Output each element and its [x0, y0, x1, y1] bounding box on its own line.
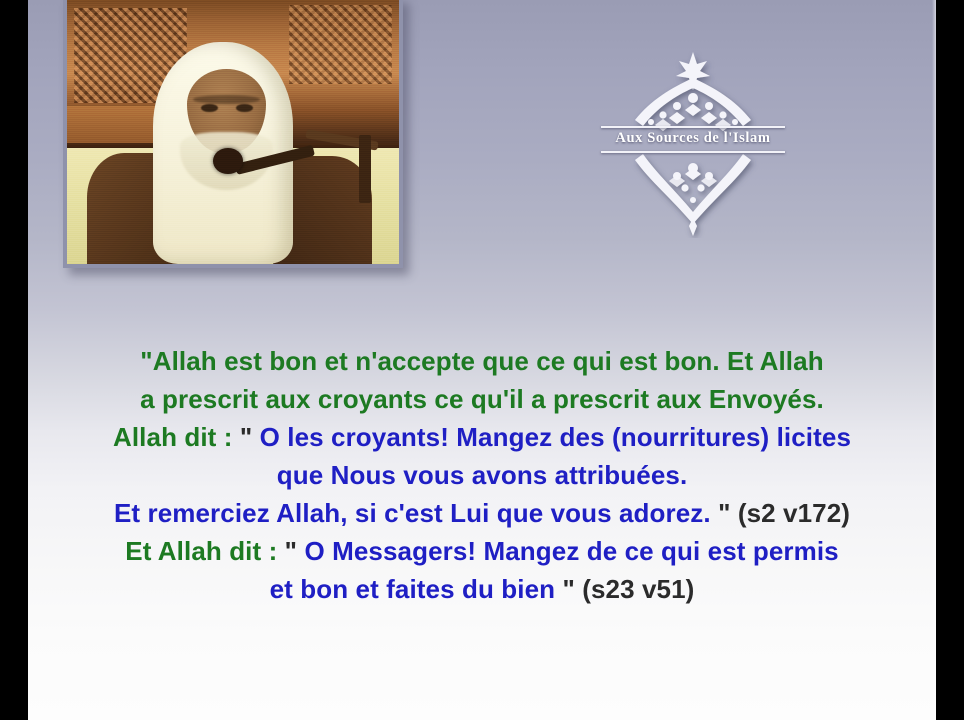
caption-line-3-segment-1: Allah dit :	[113, 422, 240, 452]
photo-video-grain	[67, 0, 399, 264]
caption-line-4: que Nous vous avons attribuées.	[28, 456, 936, 494]
speaker-photo	[67, 0, 399, 264]
caption-line-6-segment-2: "	[285, 536, 305, 566]
caption-line-7: et bon et faites du bien " (s23 v51)	[28, 570, 936, 608]
video-letterbox-frame: Aux Sources de l'Islam "Allah est bon et…	[0, 0, 964, 720]
logo-rule-bottom	[601, 151, 785, 153]
caption-line-1-segment-1: "Allah est bon et n'accepte que ce qui e…	[140, 346, 823, 376]
channel-logo: Aux Sources de l'Islam	[593, 48, 793, 238]
caption-line-6-segment-1: Et Allah dit :	[125, 536, 284, 566]
caption-line-6-segment-3: O Messagers! Mangez de ce qui est permis	[304, 536, 838, 566]
logo-rule-top	[601, 126, 785, 128]
caption-line-7-segment-1: et bon et faites du bien	[270, 574, 563, 604]
caption-line-1: "Allah est bon et n'accepte que ce qui e…	[28, 342, 936, 380]
slide-content-area: Aux Sources de l'Islam "Allah est bon et…	[28, 0, 936, 720]
caption-line-6: Et Allah dit : " O Messagers! Mangez de …	[28, 532, 936, 570]
caption-line-3-segment-2: "	[240, 422, 260, 452]
caption-line-3: Allah dit : " O les croyants! Mangez des…	[28, 418, 936, 456]
logo-text: Aux Sources de l'Islam	[593, 130, 793, 147]
caption-line-7-segment-2: " (s23 v51)	[562, 574, 694, 604]
caption-line-5-segment-1: Et remerciez Allah, si c'est Lui que vou…	[114, 498, 718, 528]
caption-line-2: a prescrit aux croyants ce qu'il a presc…	[28, 380, 936, 418]
caption-line-4-segment-1: que Nous vous avons attribuées.	[277, 460, 688, 490]
caption-line-5: Et remerciez Allah, si c'est Lui que vou…	[28, 494, 936, 532]
caption-text-block: "Allah est bon et n'accepte que ce qui e…	[28, 342, 936, 608]
caption-line-3-segment-3: O les croyants! Mangez des (nourritures)…	[260, 422, 851, 452]
speaker-photo-frame	[63, 0, 403, 268]
caption-line-5-segment-2: " (s2 v172)	[718, 498, 850, 528]
caption-line-2-segment-1: a prescrit aux croyants ce qu'il a presc…	[140, 384, 824, 414]
